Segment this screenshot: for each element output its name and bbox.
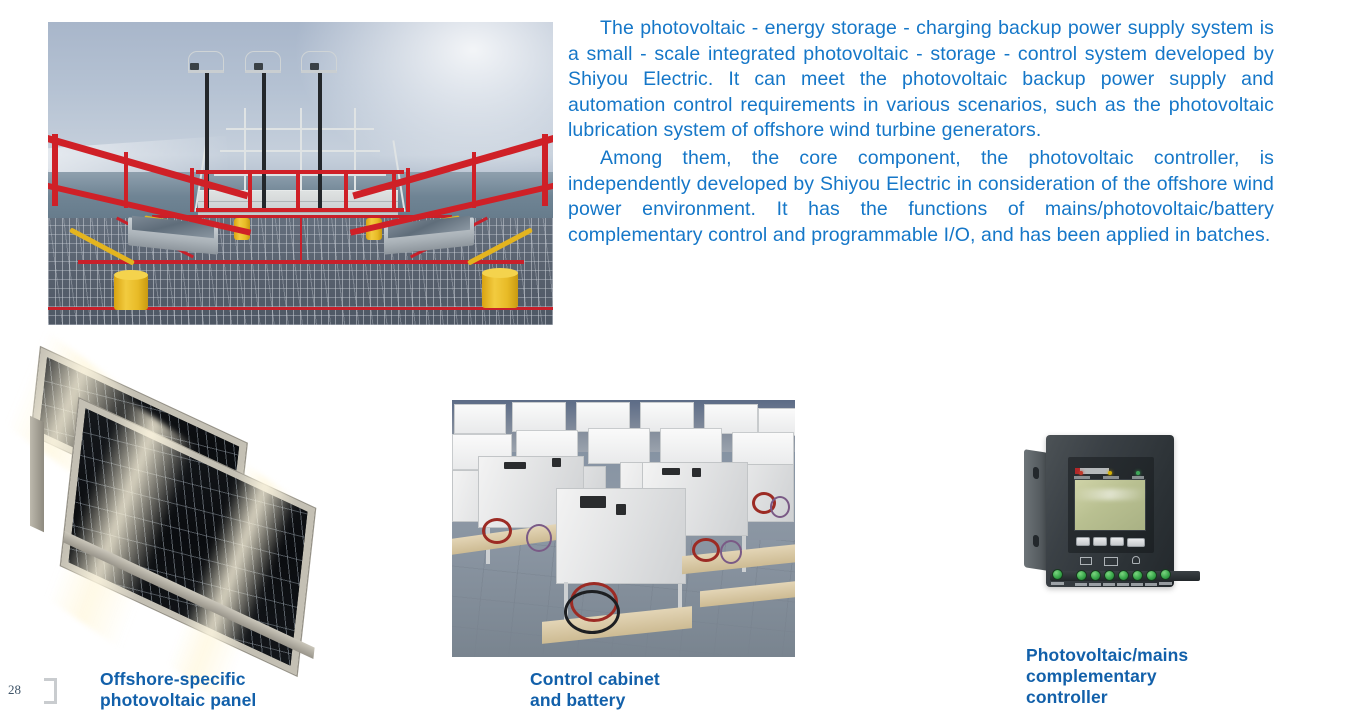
controller-housing bbox=[1046, 435, 1174, 587]
rail-post bbox=[52, 134, 58, 206]
terminal-pv-plus[interactable] bbox=[1076, 570, 1087, 581]
cabinet-vent bbox=[580, 496, 606, 508]
deck-red-center bbox=[300, 218, 302, 262]
deck-bollard-cap bbox=[482, 268, 518, 278]
offshore-photovoltaic-panel-photo bbox=[0, 383, 350, 668]
sensor-box bbox=[190, 63, 199, 70]
lcd-glare bbox=[1075, 489, 1145, 500]
cable-coil-red bbox=[482, 518, 512, 544]
terminal-out-plus[interactable] bbox=[1132, 570, 1143, 581]
rail-post bbox=[392, 170, 396, 212]
rail-post bbox=[296, 170, 300, 212]
caption-line: controller bbox=[1026, 687, 1276, 708]
cabinet-box bbox=[588, 428, 650, 464]
sensor-box bbox=[254, 63, 263, 70]
sensor-cage bbox=[301, 51, 337, 71]
cabinet-vent bbox=[504, 462, 526, 469]
terminal-label bbox=[1145, 583, 1157, 586]
cable-coil-purple bbox=[526, 524, 552, 552]
deck-bollard-cap bbox=[114, 270, 148, 280]
terminal-dc-plus[interactable] bbox=[1052, 569, 1063, 580]
sensor-cage bbox=[245, 51, 281, 71]
terminal-bat-plus[interactable] bbox=[1104, 570, 1115, 581]
pv-frame-side bbox=[30, 416, 44, 533]
pv-panel-assembly bbox=[18, 393, 318, 648]
rail-post bbox=[542, 134, 548, 206]
terminal-out-minus[interactable] bbox=[1146, 570, 1157, 581]
page-bracket-decoration bbox=[44, 678, 57, 704]
terminal-label bbox=[1159, 582, 1172, 585]
caption-line: complementary bbox=[1026, 666, 1276, 687]
caption-line: and battery bbox=[530, 690, 770, 711]
paragraph-2: Among them, the core component, the phot… bbox=[568, 146, 1274, 248]
cabinet-box-foreground bbox=[556, 488, 686, 584]
cable-coil-purple bbox=[770, 496, 790, 518]
cabinet-vent bbox=[662, 468, 680, 475]
paragraph-1: The photovoltaic - energy storage - char… bbox=[568, 16, 1274, 144]
cable-coil-black bbox=[564, 590, 620, 634]
terminal-label bbox=[1131, 583, 1143, 586]
led-ac-charge bbox=[1108, 471, 1112, 475]
sensor-pole bbox=[318, 70, 322, 212]
lamp-icon bbox=[1132, 556, 1140, 564]
rail-post bbox=[204, 170, 208, 212]
rail-post bbox=[406, 168, 410, 212]
back-rail-top bbox=[196, 170, 404, 174]
rail-post bbox=[344, 170, 348, 212]
led-pv-charge bbox=[1079, 471, 1083, 475]
terminal-label bbox=[1089, 583, 1101, 586]
controller-button-up[interactable] bbox=[1110, 537, 1124, 546]
controller-button-menu[interactable] bbox=[1076, 537, 1090, 546]
grid-icon bbox=[1080, 557, 1092, 565]
cable-coil-red bbox=[692, 538, 720, 562]
photovoltaic-mains-controller-photo bbox=[1018, 425, 1198, 605]
back-rail-bottom bbox=[196, 208, 404, 212]
page-number: 28 bbox=[8, 682, 21, 698]
caption-line: photovoltaic panel bbox=[100, 690, 340, 711]
bracket-hole bbox=[1033, 467, 1039, 480]
controller-button-enter[interactable] bbox=[1127, 538, 1145, 547]
cabinet-vent bbox=[692, 468, 701, 477]
rail-post bbox=[248, 170, 252, 212]
bracket-hole bbox=[1033, 535, 1039, 548]
cabinet-box bbox=[454, 404, 506, 434]
caption-line: Photovoltaic/mains bbox=[1026, 645, 1276, 666]
cabinet-vent bbox=[616, 504, 626, 515]
controller-lcd-display bbox=[1074, 479, 1146, 531]
controller-mounting-bracket bbox=[1024, 449, 1048, 571]
terminal-pv-minus[interactable] bbox=[1090, 570, 1101, 581]
terminal-label bbox=[1103, 583, 1115, 586]
controller-button-down[interactable] bbox=[1093, 537, 1107, 546]
terminal-bat-minus[interactable] bbox=[1118, 570, 1129, 581]
bulkhead-rib bbox=[198, 212, 398, 213]
cable-coil-purple bbox=[720, 540, 742, 564]
caption-photovoltaic-mains-controller: Photovoltaic/mains complementary control… bbox=[1026, 645, 1276, 708]
rail-post bbox=[124, 152, 128, 208]
battery-icon bbox=[1104, 557, 1118, 566]
terminal-label bbox=[1117, 583, 1129, 586]
terminal-label bbox=[1051, 582, 1064, 585]
offshore-platform-deck-photo bbox=[48, 22, 553, 325]
cabinet-box bbox=[512, 402, 566, 432]
cabinet-vent bbox=[552, 458, 561, 467]
caption-control-cabinet-and-battery: Control cabinet and battery bbox=[530, 669, 770, 711]
body-text-block: The photovoltaic - energy storage - char… bbox=[568, 16, 1274, 248]
caption-offshore-photovoltaic-panel: Offshore-specific photovoltaic panel bbox=[100, 669, 340, 711]
sensor-box bbox=[310, 63, 319, 70]
rail-post bbox=[190, 168, 194, 212]
led-fault bbox=[1136, 471, 1140, 475]
terminal-label bbox=[1075, 583, 1087, 586]
cabinet-box bbox=[660, 428, 722, 464]
caption-line: Offshore-specific bbox=[100, 669, 340, 690]
caption-line: Control cabinet bbox=[530, 669, 770, 690]
rail-post bbox=[472, 152, 476, 208]
sky-glow bbox=[293, 22, 553, 182]
control-cabinet-battery-photo bbox=[452, 400, 795, 657]
slide-root: The photovoltaic - energy storage - char… bbox=[0, 0, 1356, 719]
terminal-dc-minus[interactable] bbox=[1160, 569, 1171, 580]
sensor-pole bbox=[262, 70, 266, 212]
